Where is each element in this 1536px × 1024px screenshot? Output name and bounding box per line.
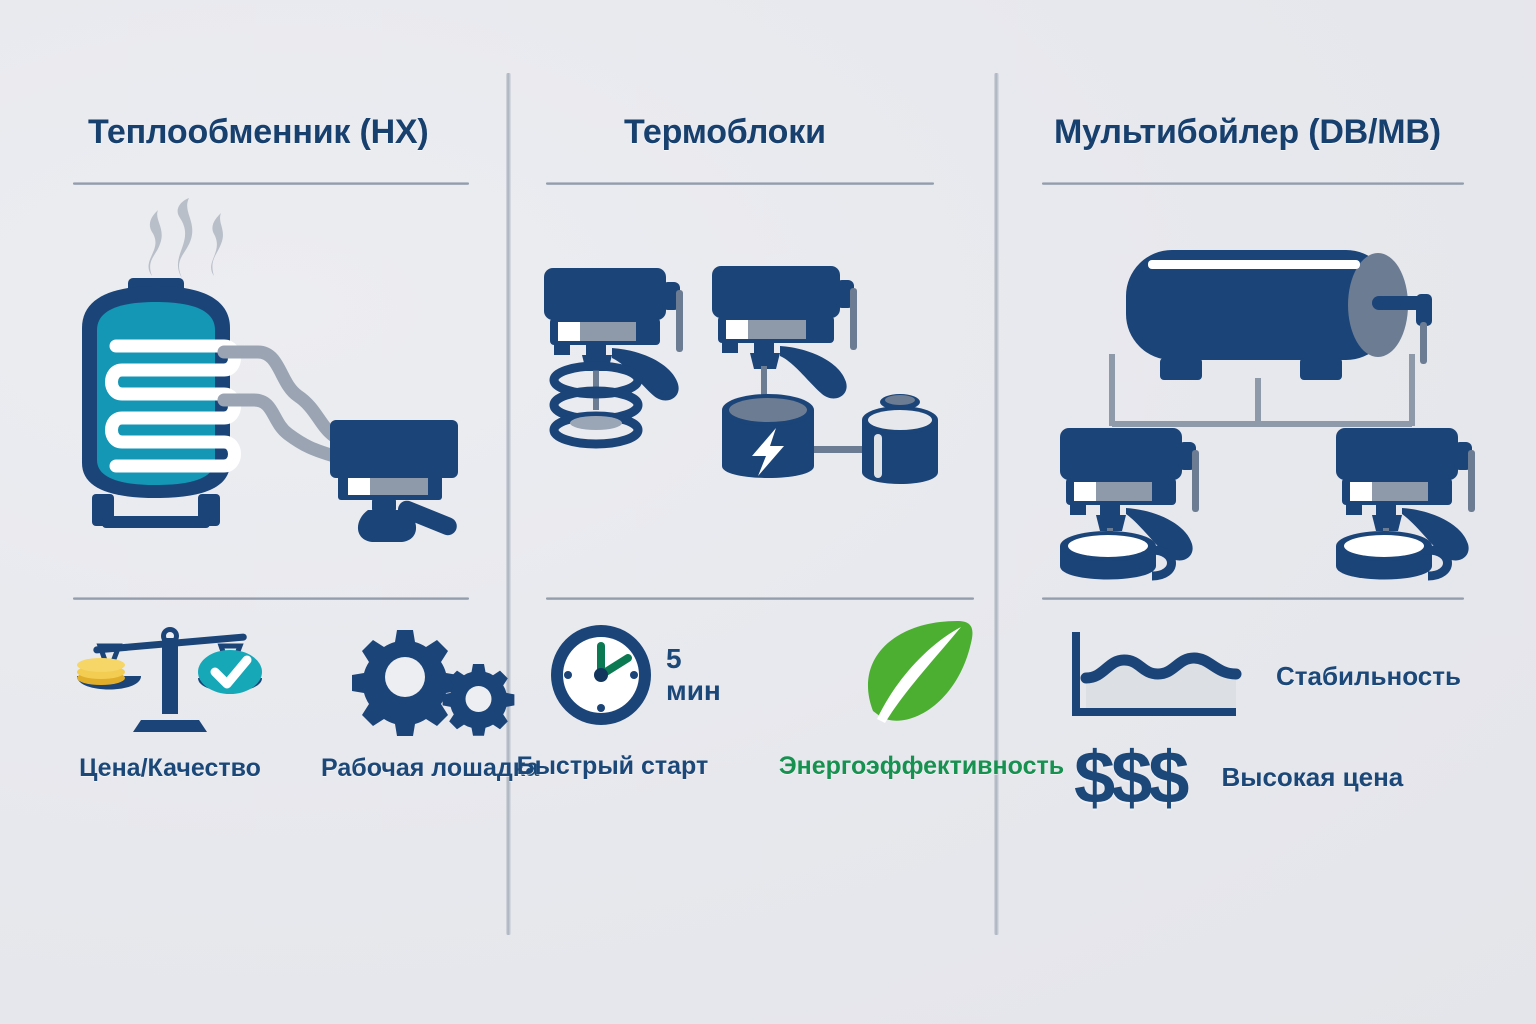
stability-chart-icon [1064, 630, 1254, 722]
feature-label-price-quality: Цена/Качество [79, 754, 261, 783]
connector-pipe [814, 446, 864, 453]
title-underline-1 [73, 182, 469, 185]
check-badge [198, 650, 262, 694]
title-underline-3 [1042, 182, 1464, 185]
group-head-with-coil [544, 268, 683, 444]
connection-pipes [224, 352, 334, 456]
column-heat-exchanger: Теплообменник (HX) [0, 0, 506, 1024]
gears-icon [335, 622, 525, 732]
features-divider-2 [546, 597, 974, 600]
balance-scale-icon [75, 622, 265, 732]
water-tank [862, 394, 938, 484]
illustration-heat-exchanger [72, 198, 492, 556]
features-divider-3 [1042, 597, 1464, 600]
clock-icon [546, 620, 656, 730]
feature-fast-start: 5 мин Быстрый старт [546, 620, 721, 781]
feature-label-fast-start: Быстрый старт [517, 752, 709, 781]
feature-stability: Стабильность [1064, 630, 1461, 722]
group-head-with-thermoblock [712, 266, 938, 484]
steam-wisps [149, 198, 223, 278]
column-thermoblocks: Термоблоки [506, 0, 1012, 1024]
horizontal-boiler [1126, 250, 1432, 380]
feature-label-stability: Стабильность [1276, 661, 1461, 692]
feature-price-quality: Цена/Качество [75, 622, 265, 783]
comparison-grid: Теплообменник (HX) [0, 0, 1536, 1024]
clock-badge-label: 5 мин [666, 643, 721, 707]
column-title-thermoblocks: Термоблоки [624, 113, 826, 152]
feature-label-high-price: Высокая цена [1221, 762, 1403, 793]
features-heat-exchanger: Цена/Качество [75, 622, 539, 783]
espresso-group-head [330, 420, 459, 542]
column-title-multiboiler: Мультибойлер (DB/MB) [1054, 113, 1441, 152]
gold-coins [77, 658, 125, 685]
features-thermoblocks: 5 мин Быстрый старт Энергоэффективность [546, 620, 1064, 781]
illustration-thermoblocks [526, 260, 976, 510]
feature-high-price: $$$ Высокая цена [1074, 748, 1403, 807]
title-underline-2 [546, 182, 934, 185]
manifold-lines [1112, 354, 1412, 424]
column-multiboiler: Мультибойлер (DB/MB) [1012, 0, 1536, 1024]
thermoblock-cylinder [722, 394, 814, 478]
illustration-multiboiler [1038, 232, 1498, 582]
dollar-signs-icon: $$$ [1074, 748, 1185, 807]
column-title-heat-exchanger: Теплообменник (HX) [88, 113, 429, 152]
leaf-icon [861, 619, 981, 731]
boiler-tank [82, 278, 230, 528]
features-divider-1 [73, 597, 469, 600]
